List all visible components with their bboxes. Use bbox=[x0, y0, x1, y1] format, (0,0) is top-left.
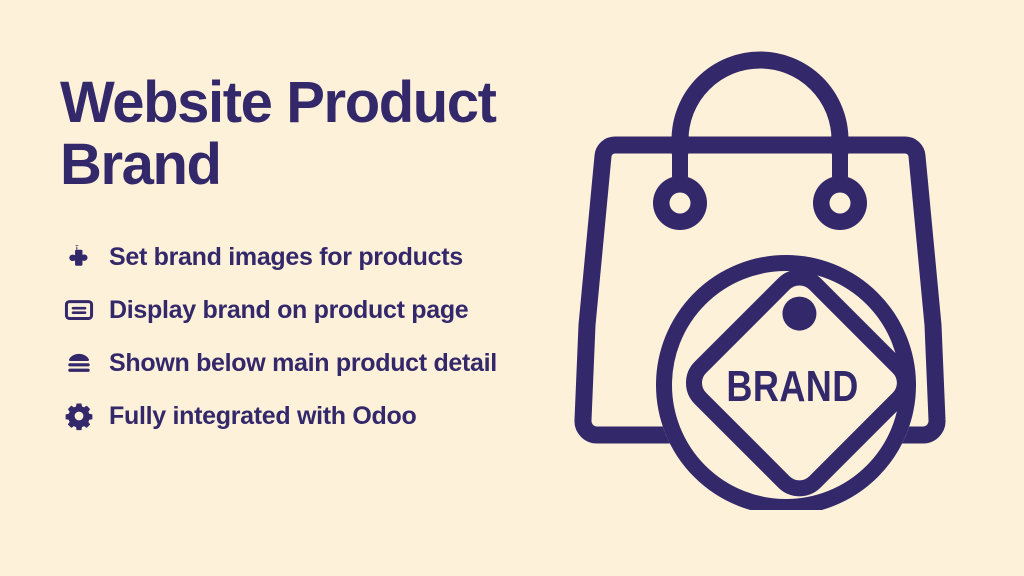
brand-tag-text: BRAND bbox=[726, 362, 858, 411]
feature-item-display-brand: Display brand on product page bbox=[63, 283, 603, 336]
page-title-line-2: Brand bbox=[60, 134, 580, 196]
feature-item-odoo-integration: Fully integrated with Odoo bbox=[63, 389, 603, 442]
feature-label: Set brand images for products bbox=[109, 243, 463, 271]
gear-icon bbox=[63, 400, 95, 432]
bag-grommet-right bbox=[813, 176, 867, 230]
feature-label: Fully integrated with Odoo bbox=[109, 402, 416, 430]
price-tag-hole-dot bbox=[775, 290, 823, 338]
feature-label: Shown below main product detail bbox=[109, 349, 497, 377]
page-title-line-1: Website Product bbox=[60, 72, 580, 134]
feature-item-set-brand-images: Set brand images for products bbox=[63, 230, 603, 283]
bag-grommet-left bbox=[653, 176, 707, 230]
feature-item-shown-below-detail: Shown below main product detail bbox=[63, 336, 603, 389]
shopping-bag-with-brand-tag-illustration: BRAND bbox=[540, 40, 980, 510]
promo-banner: Website Product Brand Set brand images f… bbox=[0, 0, 1024, 576]
text-column: Website Product Brand Set brand images f… bbox=[60, 72, 580, 196]
stacked-layers-icon bbox=[63, 347, 95, 379]
puzzle-piece-icon bbox=[63, 241, 95, 273]
article-card-icon bbox=[63, 294, 95, 326]
page-title: Website Product Brand bbox=[60, 72, 580, 196]
feature-list: Set brand images for products Display br… bbox=[63, 230, 603, 442]
price-tag-badge: BRAND bbox=[664, 263, 914, 507]
feature-label: Display brand on product page bbox=[109, 296, 468, 324]
